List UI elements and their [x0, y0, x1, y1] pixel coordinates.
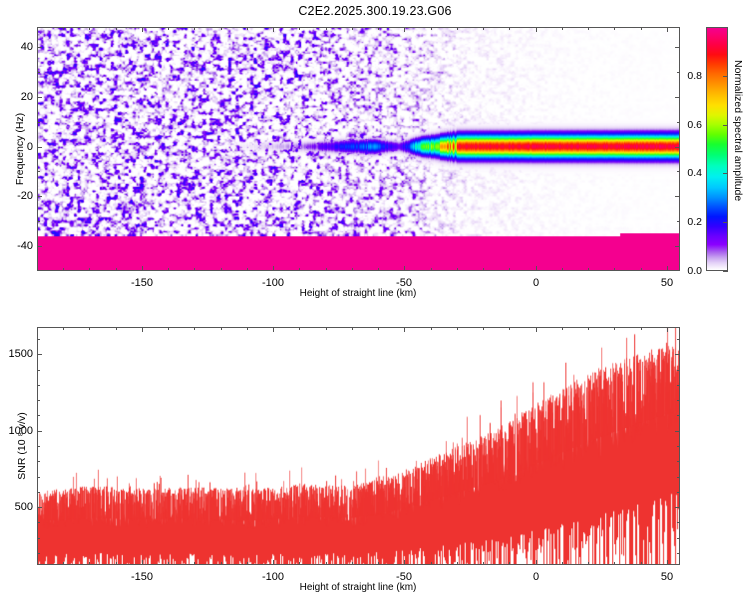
- colorbar-ticklabel: 0.8: [680, 70, 702, 82]
- spectrogram-y-ticklabel: 40: [11, 41, 33, 53]
- axis-tick: [483, 268, 484, 271]
- axis-tick: [168, 327, 169, 330]
- colorbar-tick: [723, 222, 728, 223]
- snr-x-axis-title: Height of straight line (km): [300, 582, 417, 593]
- axis-tick: [299, 27, 300, 30]
- axis-tick: [37, 477, 40, 478]
- axis-tick: [667, 327, 668, 332]
- axis-tick: [352, 327, 353, 330]
- colorbar: [706, 27, 728, 271]
- axis-tick: [667, 560, 668, 565]
- axis-tick: [142, 27, 143, 32]
- axis-tick: [168, 562, 169, 565]
- axis-tick: [677, 400, 680, 401]
- snr-y-ticklabel: 1500: [5, 348, 33, 360]
- axis-tick: [378, 268, 379, 271]
- axis-tick: [37, 492, 40, 493]
- colorbar-ticklabel: 0.4: [680, 167, 702, 179]
- axis-tick: [675, 47, 680, 48]
- axis-tick: [509, 327, 510, 330]
- axis-tick: [63, 327, 64, 330]
- axis-tick: [641, 562, 642, 565]
- colorbar-tick: [723, 173, 728, 174]
- axis-tick: [63, 268, 64, 271]
- colorbar-title: Normalized spectral amplitude: [732, 60, 744, 201]
- axis-tick: [299, 562, 300, 565]
- axis-tick: [168, 268, 169, 271]
- axis-tick: [37, 97, 42, 98]
- axis-tick: [457, 327, 458, 330]
- axis-tick: [37, 147, 42, 148]
- axis-tick: [641, 27, 642, 30]
- colorbar-tick: [723, 125, 728, 126]
- axis-tick: [483, 27, 484, 30]
- spectrogram-image: [38, 28, 679, 270]
- axis-tick: [378, 27, 379, 30]
- axis-tick: [509, 27, 510, 30]
- axis-tick: [677, 461, 680, 462]
- axis-tick: [675, 354, 680, 355]
- axis-tick: [37, 72, 40, 73]
- axis-tick: [37, 446, 40, 447]
- axis-tick: [89, 562, 90, 565]
- colorbar-ticklabel: 0.6: [680, 119, 702, 131]
- axis-tick: [326, 27, 327, 30]
- axis-tick: [37, 415, 40, 416]
- axis-tick: [37, 522, 40, 523]
- colorbar-ticklabel: 0.2: [680, 216, 702, 228]
- axis-tick: [483, 327, 484, 330]
- axis-tick: [116, 268, 117, 271]
- axis-tick: [562, 327, 563, 330]
- axis-tick: [89, 27, 90, 30]
- axis-tick: [116, 27, 117, 30]
- axis-tick: [641, 327, 642, 330]
- spectrogram-x-ticklabel: 50: [661, 277, 673, 289]
- axis-tick: [404, 327, 405, 332]
- axis-tick: [37, 553, 40, 554]
- axis-tick: [378, 562, 379, 565]
- figure-canvas: C2E2.2025.300.19.23.G06 40200-20-40 Freq…: [0, 0, 750, 600]
- axis-tick: [677, 522, 680, 523]
- axis-tick: [352, 268, 353, 271]
- axis-tick: [641, 268, 642, 271]
- axis-tick: [37, 385, 40, 386]
- axis-tick: [677, 370, 680, 371]
- spectrogram-x-axis-title: Height of straight line (km): [300, 288, 417, 299]
- axis-tick: [588, 327, 589, 330]
- axis-tick: [614, 327, 615, 330]
- axis-tick: [37, 538, 40, 539]
- axis-tick: [89, 327, 90, 330]
- axis-tick: [431, 27, 432, 30]
- axis-tick: [37, 122, 40, 123]
- spectrogram-y-axis-title: Frequency (Hz): [14, 113, 26, 185]
- axis-tick: [247, 327, 248, 330]
- axis-tick: [352, 562, 353, 565]
- axis-tick: [247, 562, 248, 565]
- colorbar-tick: [723, 271, 728, 272]
- axis-tick: [509, 268, 510, 271]
- axis-tick: [614, 562, 615, 565]
- axis-tick: [536, 560, 537, 565]
- axis-tick: [194, 327, 195, 330]
- axis-tick: [431, 327, 432, 330]
- axis-tick: [378, 327, 379, 330]
- axis-tick: [404, 27, 405, 32]
- axis-tick: [536, 327, 537, 332]
- axis-tick: [509, 562, 510, 565]
- spectrogram-x-ticklabel: -150: [131, 277, 153, 289]
- axis-tick: [63, 27, 64, 30]
- axis-tick: [614, 27, 615, 30]
- axis-tick: [168, 27, 169, 30]
- axis-tick: [675, 97, 680, 98]
- axis-tick: [352, 27, 353, 30]
- axis-tick: [142, 266, 143, 271]
- axis-tick: [326, 268, 327, 271]
- axis-tick: [142, 327, 143, 332]
- axis-tick: [299, 268, 300, 271]
- axis-tick: [675, 431, 680, 432]
- axis-tick: [562, 27, 563, 30]
- axis-tick: [404, 266, 405, 271]
- axis-tick: [37, 461, 40, 462]
- axis-tick: [273, 266, 274, 271]
- axis-tick: [677, 477, 680, 478]
- axis-tick: [536, 266, 537, 271]
- axis-tick: [457, 562, 458, 565]
- axis-tick: [677, 492, 680, 493]
- snr-panel: [37, 327, 680, 565]
- snr-x-ticklabel: -100: [262, 571, 284, 583]
- axis-tick: [142, 560, 143, 565]
- axis-tick: [675, 507, 680, 508]
- axis-tick: [37, 221, 40, 222]
- axis-tick: [588, 562, 589, 565]
- axis-tick: [221, 27, 222, 30]
- snr-x-ticklabel: 50: [661, 571, 673, 583]
- axis-tick: [677, 339, 680, 340]
- axis-tick: [326, 327, 327, 330]
- axis-tick: [37, 246, 42, 247]
- page-title: C2E2.2025.300.19.23.G06: [0, 4, 750, 18]
- snr-trace: [38, 328, 679, 564]
- axis-tick: [37, 47, 42, 48]
- axis-tick: [614, 268, 615, 271]
- axis-tick: [431, 268, 432, 271]
- axis-tick: [667, 266, 668, 271]
- axis-tick: [273, 327, 274, 332]
- colorbar-ticklabel: 0.0: [680, 265, 702, 277]
- axis-tick: [194, 27, 195, 30]
- axis-tick: [588, 27, 589, 30]
- axis-tick: [562, 268, 563, 271]
- axis-tick: [273, 560, 274, 565]
- axis-tick: [667, 27, 668, 32]
- axis-tick: [37, 354, 42, 355]
- snr-x-ticklabel: 0: [533, 571, 539, 583]
- snr-x-ticklabel: -150: [131, 571, 153, 583]
- axis-tick: [677, 385, 680, 386]
- axis-tick: [677, 446, 680, 447]
- axis-tick: [37, 370, 40, 371]
- axis-tick: [37, 431, 42, 432]
- spectrogram-x-ticklabel: -100: [262, 277, 284, 289]
- axis-tick: [404, 560, 405, 565]
- axis-tick: [431, 562, 432, 565]
- axis-tick: [37, 400, 40, 401]
- axis-tick: [221, 327, 222, 330]
- axis-tick: [194, 562, 195, 565]
- axis-tick: [677, 553, 680, 554]
- axis-tick: [37, 196, 42, 197]
- axis-tick: [37, 339, 40, 340]
- axis-tick: [89, 268, 90, 271]
- spectrogram-x-ticklabel: 0: [533, 277, 539, 289]
- axis-tick: [247, 268, 248, 271]
- axis-tick: [299, 327, 300, 330]
- snr-y-ticklabel: 500: [5, 501, 33, 513]
- axis-tick: [675, 147, 680, 148]
- axis-tick: [37, 171, 40, 172]
- axis-tick: [194, 268, 195, 271]
- spectrogram-y-ticklabel: 20: [11, 91, 33, 103]
- axis-tick: [221, 268, 222, 271]
- axis-tick: [562, 562, 563, 565]
- axis-tick: [675, 246, 680, 247]
- axis-tick: [37, 507, 42, 508]
- axis-tick: [63, 562, 64, 565]
- colorbar-tick: [723, 76, 728, 77]
- axis-tick: [457, 268, 458, 271]
- axis-tick: [588, 268, 589, 271]
- spectrogram-panel: [37, 27, 680, 271]
- spectrogram-y-ticklabel: -40: [11, 240, 33, 252]
- axis-tick: [326, 562, 327, 565]
- axis-tick: [677, 538, 680, 539]
- axis-tick: [536, 27, 537, 32]
- axis-tick: [116, 327, 117, 330]
- spectrogram-y-ticklabel: -20: [11, 190, 33, 202]
- axis-tick: [247, 27, 248, 30]
- colorbar-gradient: [706, 27, 728, 271]
- axis-tick: [483, 562, 484, 565]
- axis-tick: [677, 415, 680, 416]
- axis-tick: [221, 562, 222, 565]
- axis-tick: [273, 27, 274, 32]
- snr-y-axis-title: SNR (10 ⁸ v/v): [16, 412, 28, 479]
- axis-tick: [116, 562, 117, 565]
- axis-tick: [675, 196, 680, 197]
- axis-tick: [457, 27, 458, 30]
